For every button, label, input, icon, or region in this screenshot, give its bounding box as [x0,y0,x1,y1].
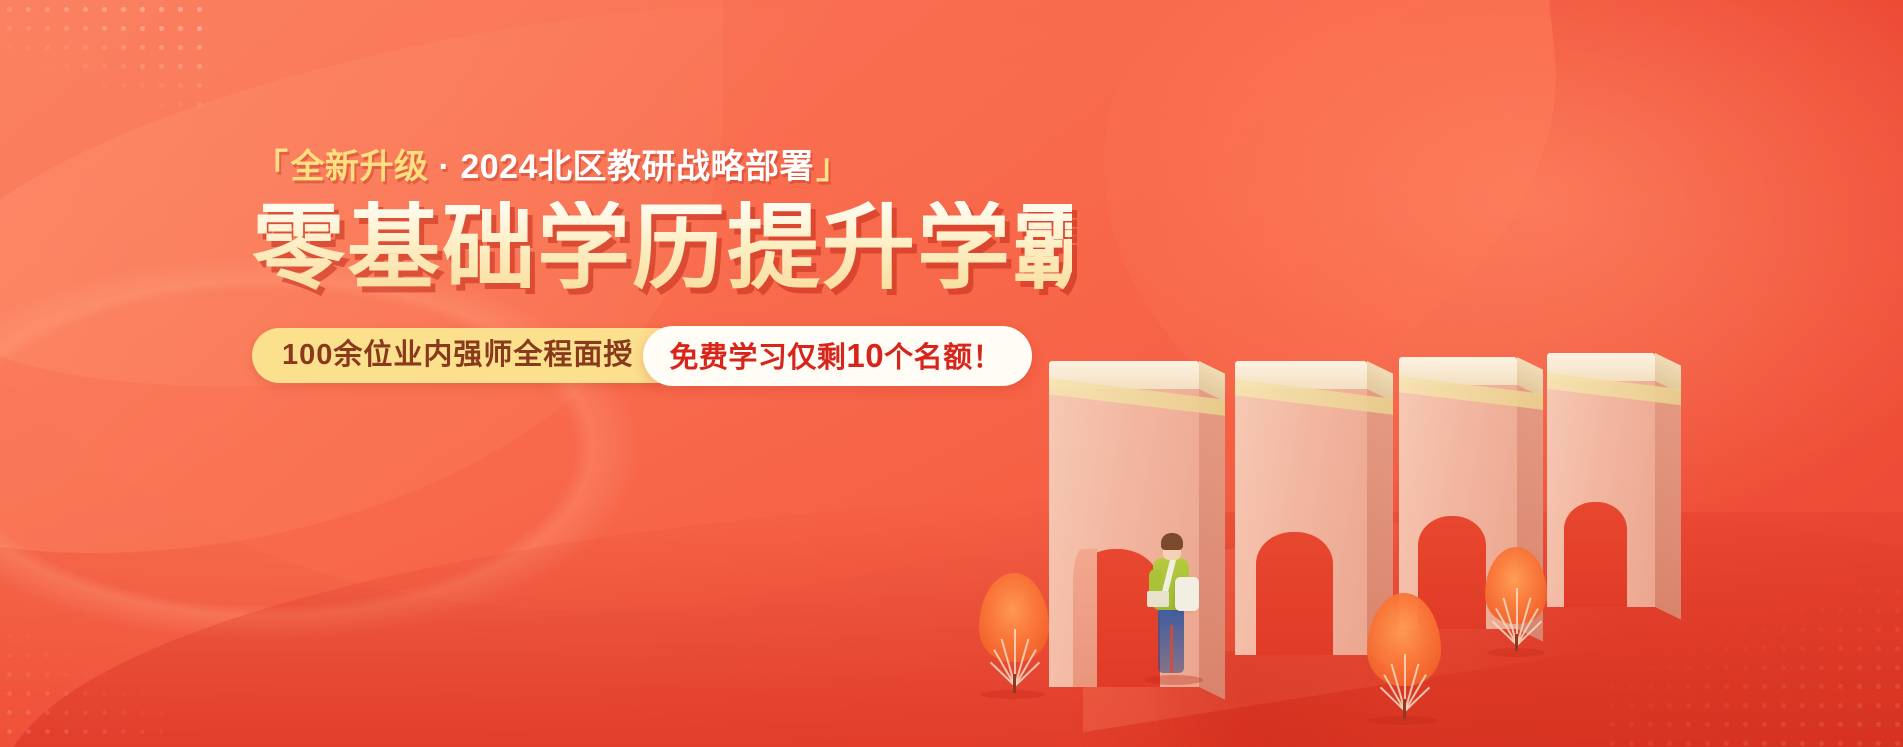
eyebrow-rest: 2024北区教研战略部署 [460,148,814,186]
figure-shadow [1145,675,1203,685]
dot-pattern-bottom-left [0,627,170,747]
slots-count: 10 [846,337,884,374]
arch-opening-inner [1073,549,1097,687]
slots-suffix: 个名额！ [884,342,1002,374]
page-title: 零基础学历提升学霸班 [252,201,1072,296]
teachers-badge[interactable]: 100余位业内强师全程面授 [252,328,661,383]
promo-banner[interactable]: 「全新升级·2024北区教研战略部署」 零基础学历提升学霸班 100余位业内强师… [0,0,1903,747]
dot-pattern-top-left [0,0,215,110]
eyebrow-separator: · [439,148,451,186]
figure-shoulder-bag [1175,577,1199,611]
arch-opening [1564,502,1627,607]
figure-hair [1161,533,1183,550]
figure-leg-gap [1170,625,1173,673]
arch-side [1655,379,1681,620]
figure-book [1147,591,1169,607]
book-arch-4 [1547,379,1655,607]
autumn-tree-2 [1367,593,1441,719]
tree-trunk [1013,674,1016,693]
close-bracket: 」 [816,148,851,186]
copy-block: 「全新升级·2024北区教研战略部署」 零基础学历提升学霸班 100余位业内强师… [252,150,1072,386]
pill-row: 100余位业内强师全程面授 免费学习仅剩10个名额！ [252,326,1072,386]
arch-opening [1256,532,1333,655]
book-arch-2 [1235,387,1367,655]
student-figure [1141,533,1203,679]
tree-trunk [1403,699,1406,719]
open-bracket: 「 [254,148,289,186]
slots-prefix: 免费学习仅剩 [669,342,846,374]
free-slots-badge[interactable]: 免费学习仅剩10个名额！ [643,326,1032,386]
autumn-tree-1 [979,573,1049,693]
eyebrow-highlight: 全新升级 [291,148,429,186]
tree-trunk [1515,634,1518,651]
eyebrow-line: 「全新升级·2024北区教研战略部署」 [252,150,1072,184]
autumn-tree-3 [1485,547,1547,651]
